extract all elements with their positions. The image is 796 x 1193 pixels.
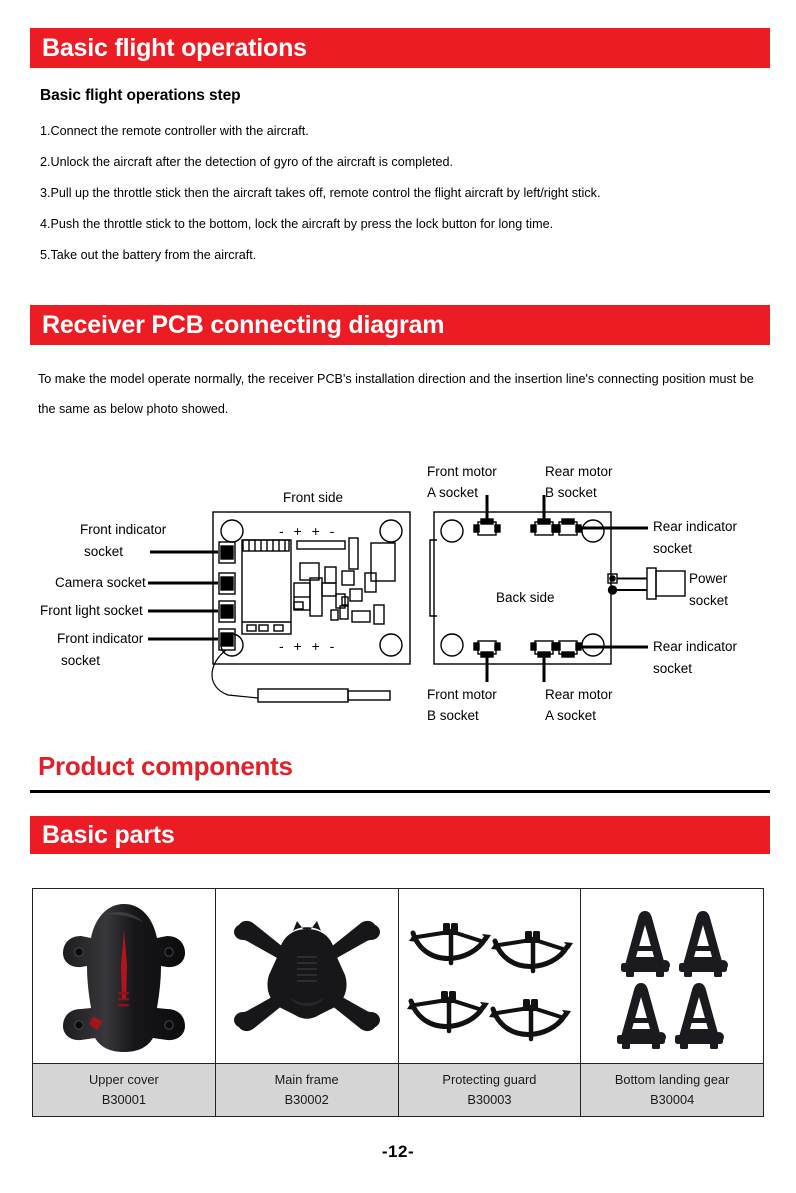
parts-photo-cell: [581, 889, 764, 1064]
parts-photo-cell: [215, 889, 398, 1064]
label-front-motor-a-socket: Front motor: [427, 464, 497, 479]
svg-text:socket: socket: [653, 541, 692, 556]
part-name: Upper cover: [33, 1070, 215, 1090]
svg-text:B socket: B socket: [427, 708, 479, 723]
part-code: B30002: [216, 1090, 398, 1110]
parts-photo-cell: [398, 889, 581, 1064]
polarity-marks-bottom: - + + -: [279, 638, 337, 654]
section-header-receiver-pcb: Receiver PCB connecting diagram: [30, 305, 770, 345]
back-side-title: Back side: [496, 590, 555, 605]
label-front-indicator-socket-top: Front indicator: [80, 522, 167, 537]
list-item: 3.Pull up the throttle stick then the ai…: [40, 187, 770, 200]
part-name: Main frame: [216, 1070, 398, 1090]
receiver-paragraph: To make the model operate normally, the …: [38, 364, 768, 424]
label-rear-indicator-socket-top: Rear indicator: [653, 519, 738, 534]
section-header-basic-parts: Basic parts: [30, 816, 770, 854]
list-item: 2.Unlock the aircraft after the detectio…: [40, 156, 770, 169]
part-code: B30004: [581, 1090, 763, 1110]
table-row-photos: [33, 889, 764, 1064]
parts-photo-cell: [33, 889, 216, 1064]
label-front-light-socket: Front light socket: [40, 603, 143, 618]
flight-steps-list: 1.Connect the remote controller with the…: [40, 125, 770, 280]
divider: [30, 790, 770, 793]
svg-text:B socket: B socket: [545, 485, 597, 500]
list-item: 1.Connect the remote controller with the…: [40, 125, 770, 138]
list-item: 5.Take out the battery from the aircraft…: [40, 249, 770, 262]
parts-caption-cell: Upper cover B30001: [33, 1064, 216, 1117]
svg-text:socket: socket: [653, 661, 692, 676]
page-number: -12-: [0, 1142, 796, 1162]
parts-caption-cell: Main frame B30002: [215, 1064, 398, 1117]
svg-text:A socket: A socket: [427, 485, 478, 500]
polarity-marks-top: - + + -: [279, 523, 337, 539]
svg-text:A socket: A socket: [545, 708, 596, 723]
basic-parts-table: Upper cover B30001 Main frame B30002 Pro…: [32, 888, 764, 1117]
drone-main-frame-photo: [216, 889, 398, 1063]
section-header-basic-flight-operations: Basic flight operations: [30, 28, 770, 68]
section-header-label: Receiver PCB connecting diagram: [30, 313, 444, 338]
part-code: B30001: [33, 1090, 215, 1110]
label-power-socket: Power: [689, 571, 728, 586]
propeller-guard-photo: [399, 889, 581, 1063]
table-row-captions: Upper cover B30001 Main frame B30002 Pro…: [33, 1064, 764, 1117]
label-front-indicator-socket-bottom: Front indicator: [57, 631, 144, 646]
svg-text:socket: socket: [689, 593, 728, 608]
label-rear-indicator-socket-bottom: Rear indicator: [653, 639, 738, 654]
list-item: 4.Push the throttle stick to the bottom,…: [40, 218, 770, 231]
label-rear-motor-a-socket: Rear motor: [545, 687, 613, 702]
section-header-label: Basic parts: [30, 823, 175, 848]
receiver-pcb-diagram: Front side Back side - + + - - + + - Fro…: [0, 450, 796, 735]
label-rear-motor-b-socket: Rear motor: [545, 464, 613, 479]
front-side-title: Front side: [283, 490, 343, 505]
part-code: B30003: [399, 1090, 581, 1110]
drone-upper-cover-photo: [33, 889, 215, 1063]
parts-caption-cell: Bottom landing gear B30004: [581, 1064, 764, 1117]
label-front-motor-b-socket: Front motor: [427, 687, 497, 702]
svg-text:socket: socket: [84, 544, 123, 559]
part-name: Bottom landing gear: [581, 1070, 763, 1090]
landing-gear-photo: [581, 889, 763, 1063]
manual-page: Basic flight operations Basic flight ope…: [0, 0, 796, 1193]
subheading-basic-flight-operations-step: Basic flight operations step: [40, 87, 240, 105]
part-name: Protecting guard: [399, 1070, 581, 1090]
section-header-product-components: Product components: [38, 751, 293, 782]
parts-caption-cell: Protecting guard B30003: [398, 1064, 581, 1117]
svg-text:socket: socket: [61, 653, 100, 668]
section-header-label: Basic flight operations: [30, 36, 307, 61]
label-camera-socket: Camera socket: [55, 575, 146, 590]
